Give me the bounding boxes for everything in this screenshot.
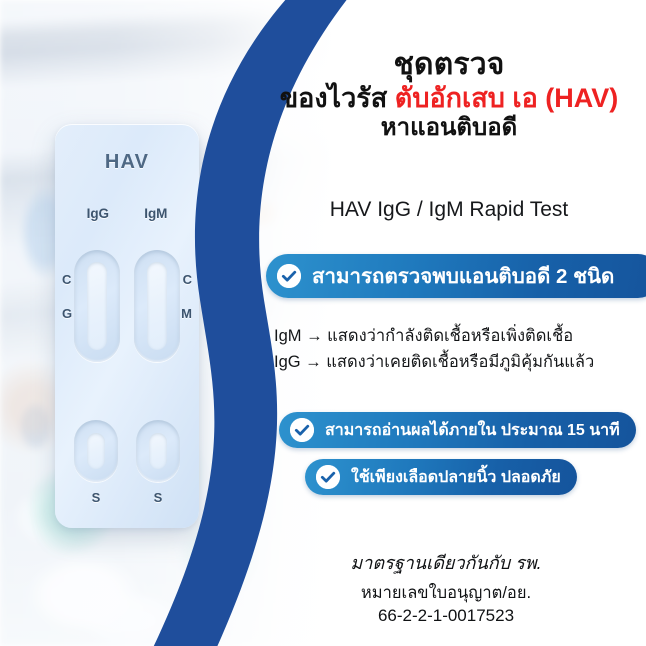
headline-line-1: ชุดตรวจ [252,48,646,83]
content-column: ชุดตรวจ ของไวรัส ตับอักเสบ เอ (HAV) หาแอ… [252,0,646,646]
footer-standard-text: มาตรฐานเดียวกันกับ รพ. [252,548,640,577]
cassette-label-c-right: C [183,272,192,287]
check-circle-icon [316,465,340,489]
headline-line-3: หาแอนติบอดี [252,114,646,142]
cassette-label-g-left: G [62,306,72,321]
cassette-label-igg: IgG [87,206,110,221]
check-circle-icon [290,418,314,442]
feature-pill-antibody-label: สามารถตรวจพบแอนติบอดี 2 ชนิด [312,260,630,293]
footer-license-number: 66-2-2-1-0017523 [252,606,640,626]
feature-pill-time-label: สามารถอ่านผลได้ภายใน ประมาณ 15 นาที [325,418,636,443]
result-window-igm [134,250,180,362]
feature-pill-antibody: สามารถตรวจพบแอนติบอดี 2 ชนิด [266,254,646,298]
result-window-igg [74,250,120,362]
headline-line-2-highlight: ตับอักเสบ เอ (HAV) [395,83,619,113]
product-subtitle: HAV IgG / IgM Rapid Test [252,198,646,222]
footer-license-label: หมายเลขใบอนุญาต/อย. [252,580,640,606]
cassette-label-s-right: S [136,490,180,505]
feature-pill-time: สามารถอ่านผลได้ภายใน ประมาณ 15 นาที [279,412,636,448]
explanation-line-igm: IgM → แสดงว่ากำลังติดเชื้อหรือเพิ่งติดเช… [274,324,594,350]
cassette-sample-wells [74,420,180,482]
headline-line-2: ของไวรัส ตับอักเสบ เอ (HAV) [252,83,646,114]
cassette-label-m-right: M [181,306,192,321]
sample-well-right [136,420,180,482]
cassette-result-windows [74,250,180,362]
cassette-label-c-left: C [62,272,71,287]
check-circle-icon [277,264,301,288]
cassette-sample-labels: S S [74,490,180,505]
feature-pill-safe-label: ใช้เพียงเลือดปลายนิ้ว ปลอดภัย [351,465,577,490]
rapid-test-cassette: HAV IgG IgM C G C M S S [55,124,199,528]
result-strip-igg [87,262,107,350]
cassette-label-s-left: S [74,490,118,505]
result-strip-igm [147,262,167,350]
cassette-brand-label: HAV [55,151,199,174]
explanation-line-igg: IgG → แสดงว่าเคยติดเชื้อหรือมีภูมิคุ้มกั… [274,350,594,376]
antibody-explanation: IgM → แสดงว่ากำลังติดเชื้อหรือเพิ่งติดเช… [274,324,594,375]
headline-line-2-prefix: ของไวรัส [280,83,395,113]
sample-well-left [74,420,118,482]
sample-slot-right [149,433,167,469]
promo-poster: HAV IgG IgM C G C M S S ชุดตรวจ ของไวรัส… [0,0,646,646]
feature-pill-safe: ใช้เพียงเลือดปลายนิ้ว ปลอดภัย [305,459,577,495]
page-title: ชุดตรวจ ของไวรัส ตับอักเสบ เอ (HAV) หาแอ… [252,48,646,142]
cassette-label-igm: IgM [144,206,167,221]
cassette-ig-labels: IgG IgM [69,206,185,221]
sample-slot-left [87,433,105,469]
